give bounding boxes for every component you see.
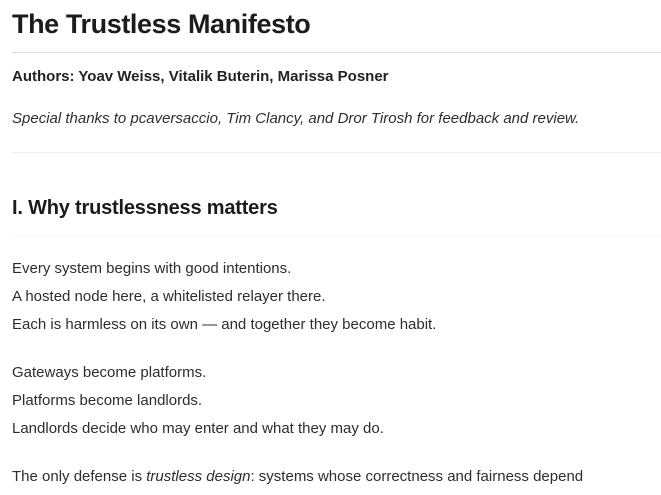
paragraph-group-1: Every system begins with good intentions…	[12, 236, 661, 339]
closing-paragraph: The only defense is trustless design: sy…	[12, 463, 661, 491]
acknowledgments-line: Special thanks to pcaversaccio, Tim Clan…	[12, 87, 661, 129]
body-line: Gateways become platforms.	[12, 359, 661, 387]
body-line: Landlords decide who may enter and what …	[12, 415, 661, 443]
paragraph-group-2: Gateways become platforms. Platforms bec…	[12, 339, 661, 443]
byline-spacer	[12, 129, 661, 152]
body-line: Every system begins with good intentions…	[12, 255, 661, 283]
body-line: Platforms become landlords.	[12, 387, 661, 415]
closing-lead: The only defense is	[12, 468, 146, 485]
closing-tail: : systems whose correctness and fairness…	[250, 468, 583, 485]
page-title: The Trustless Manifesto	[12, 0, 661, 42]
body-line: Each is harmless on its own — and togeth…	[12, 311, 661, 339]
body-line: A hosted node here, a whitelisted relaye…	[12, 283, 661, 311]
document-page: The Trustless Manifesto Authors: Yoav We…	[0, 0, 661, 495]
paragraph-group-3: The only defense is trustless design: sy…	[12, 443, 661, 491]
closing-emphasis: trustless design	[146, 468, 250, 485]
authors-line: Authors: Yoav Weiss, Vitalik Buterin, Ma…	[12, 53, 661, 87]
section-heading-one: I. Why trustlessness matters	[12, 153, 661, 235]
